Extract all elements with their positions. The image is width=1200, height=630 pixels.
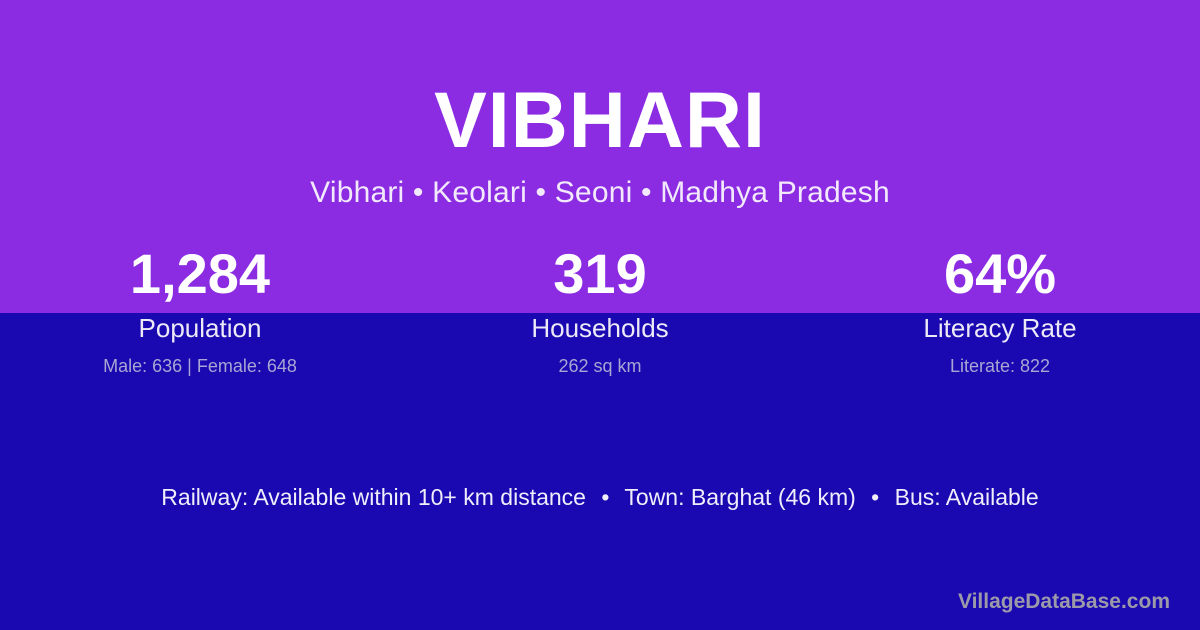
stat-value-literacy-rate: 64%: [800, 246, 1200, 304]
stat-sub-population: Male: 636 | Female: 648: [0, 357, 400, 375]
bullet-separator-icon: •: [862, 486, 888, 509]
stat-sub-households: 262 sq km: [400, 357, 800, 375]
facility-town: Town: Barghat (46 km): [624, 484, 855, 510]
card-header: VIBHARI Vibhari • Keolari • Seoni • Madh…: [0, 0, 1200, 208]
stat-label-literacy-rate: Literacy Rate: [800, 315, 1200, 341]
stat-value-population: 1,284: [0, 246, 400, 304]
bullet-separator-icon: •: [592, 486, 618, 509]
stat-literacy-rate: 64% Literacy Rate Literate: 822: [800, 246, 1200, 375]
stat-value-households: 319: [400, 246, 800, 304]
site-watermark: VillageDataBase.com: [958, 591, 1170, 612]
facility-railway: Railway: Available within 10+ km distanc…: [161, 484, 586, 510]
stat-label-households: Households: [400, 315, 800, 341]
facility-bus: Bus: Available: [895, 484, 1039, 510]
stat-population: 1,284 Population Male: 636 | Female: 648: [0, 246, 400, 375]
village-data-card: VIBHARI Vibhari • Keolari • Seoni • Madh…: [0, 0, 1200, 630]
facilities-line: Railway: Available within 10+ km distanc…: [0, 486, 1200, 509]
page-title: VIBHARI: [0, 0, 1200, 159]
stat-sub-literacy-rate: Literate: 822: [800, 357, 1200, 375]
stat-label-population: Population: [0, 315, 400, 341]
stat-households: 319 Households 262 sq km: [400, 246, 800, 375]
stats-row: 1,284 Population Male: 636 | Female: 648…: [0, 246, 1200, 375]
breadcrumb: Vibhari • Keolari • Seoni • Madhya Prade…: [0, 159, 1200, 208]
